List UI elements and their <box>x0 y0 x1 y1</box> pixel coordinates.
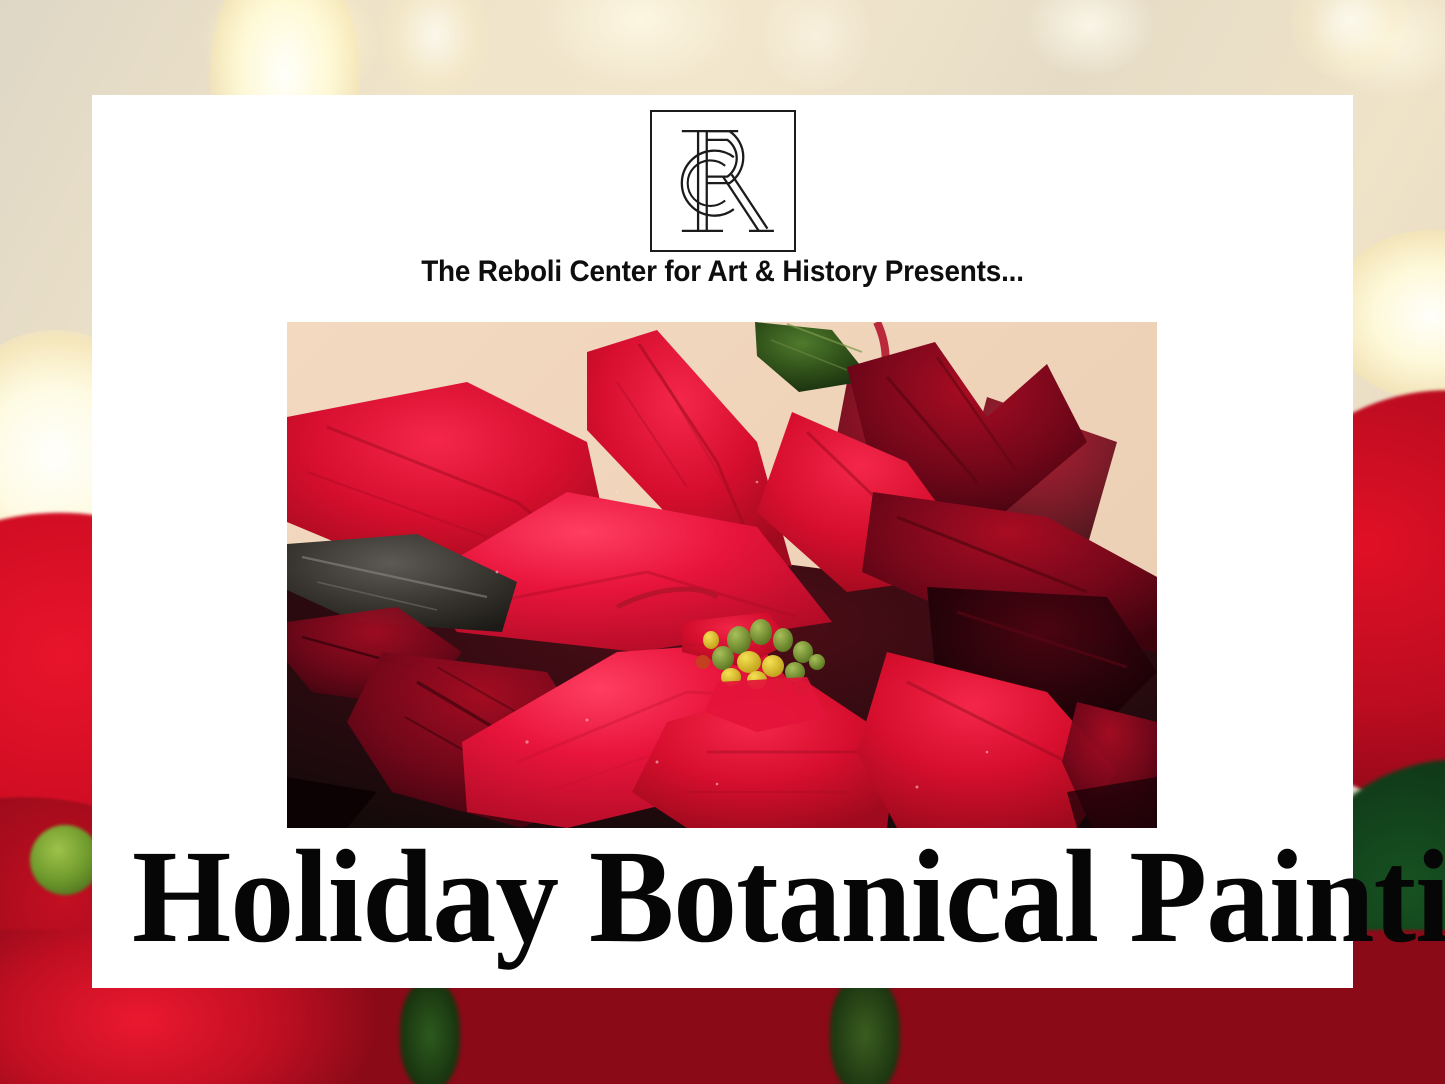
background-bud-left <box>30 825 100 895</box>
organization-tagline: The Reboli Center for Art & History Pres… <box>136 255 1309 289</box>
red-poinsettia-photograph <box>287 322 1157 828</box>
poster-canvas: The Reboli Center for Art & History Pres… <box>0 0 1445 1084</box>
background-stem-left <box>400 980 460 1084</box>
logo-container <box>92 110 1353 252</box>
bokeh-light-icon <box>1290 0 1410 80</box>
poster-white-card: The Reboli Center for Art & History Pres… <box>92 95 1353 988</box>
bokeh-light-icon <box>760 0 870 90</box>
background-stem-right <box>830 975 900 1084</box>
reboli-center-monogram-icon <box>650 110 796 252</box>
bokeh-light-icon <box>1380 960 1445 1080</box>
bokeh-light-icon <box>380 0 490 100</box>
event-title: Holiday Botanical Painting <box>132 830 1274 963</box>
